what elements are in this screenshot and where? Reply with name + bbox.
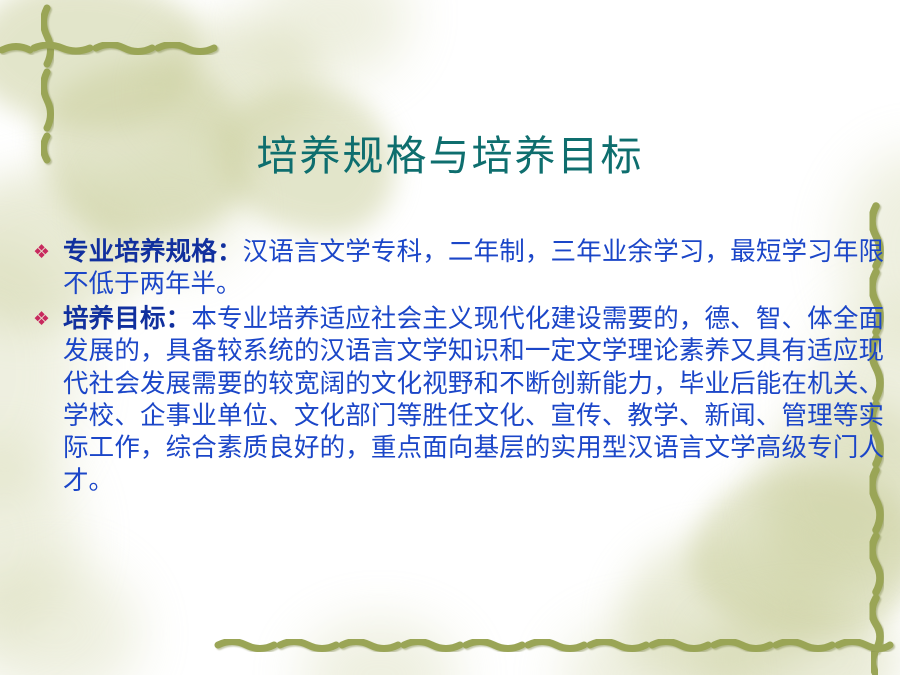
bullet-lead-label: 专业培养规格： xyxy=(63,237,243,266)
leaf-shape xyxy=(560,620,740,675)
leaf-shape xyxy=(620,540,830,675)
slide-canvas: 培养规格与培养目标 ❖ 专业培养规格：汉语言文学专科，二年制，三年业余学习，最短… xyxy=(0,0,900,675)
bullet-lead-label: 培养目标： xyxy=(63,304,191,333)
bullet-item: ❖ 培养目标：本专业培养适应社会主义现代化建设需要的，德、智、体全面发展的，具备… xyxy=(28,303,884,497)
bamboo-bottom-horizontal xyxy=(218,642,890,649)
diamond-bullet-icon: ❖ xyxy=(28,236,63,268)
leaf-shape xyxy=(300,620,460,675)
leaf-shape xyxy=(0,0,200,130)
bullet-paragraph: 培养目标：本专业培养适应社会主义现代化建设需要的，德、智、体全面发展的，具备较系… xyxy=(63,303,884,497)
leaf-shape xyxy=(250,0,410,80)
bamboo-top-horizontal xyxy=(2,45,214,52)
bullet-item: ❖ 专业培养规格：汉语言文学专科，二年制，三年业余学习，最短学习年限不低于两年半… xyxy=(28,236,884,301)
bullet-paragraph: 专业培养规格：汉语言文学专科，二年制，三年业余学习，最短学习年限不低于两年半。 xyxy=(63,236,884,301)
slide-title: 培养规格与培养目标 xyxy=(0,132,900,181)
leaf-shape xyxy=(0,560,140,675)
bamboo-bottom-right-vertical xyxy=(873,650,877,674)
slide-body: ❖ 专业培养规格：汉语言文学专科，二年制，三年业余学习，最短学习年限不低于两年半… xyxy=(28,236,884,499)
leaf-shape xyxy=(150,20,320,150)
diamond-bullet-icon: ❖ xyxy=(28,303,63,335)
leaf-shape xyxy=(700,600,900,675)
